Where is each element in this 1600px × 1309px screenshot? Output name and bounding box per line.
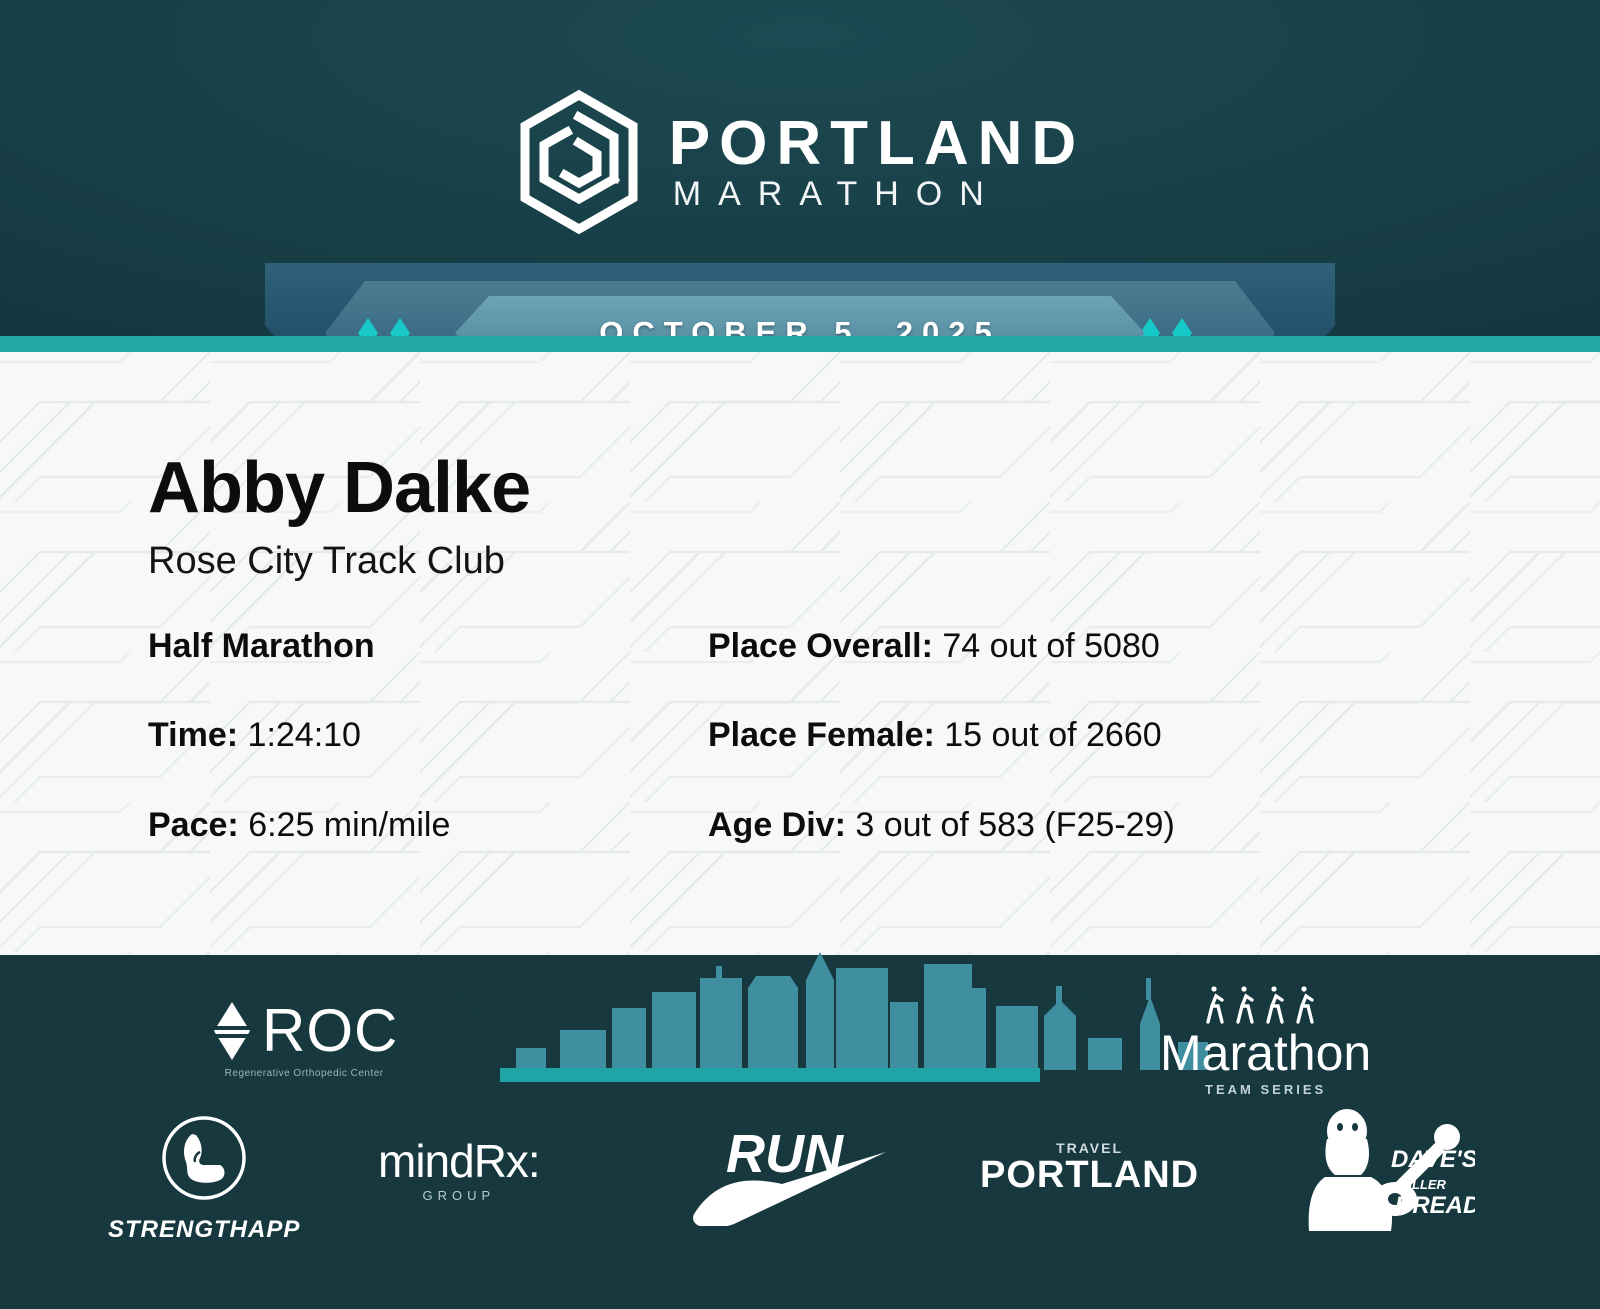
sponsor-strengthapp-word: STRENGTHAPP	[108, 1216, 300, 1244]
stat-time: Time: 1:24:10	[148, 717, 708, 754]
stat-place-female: Place Female: 15 out of 2660	[708, 717, 1448, 754]
nike-swoosh-run-icon: RUN	[690, 1118, 890, 1226]
stats-row-3: Pace: 6:25 min/mile Age Div: 3 out of 58…	[148, 807, 1448, 844]
stats-col-left: Pace: 6:25 min/mile	[148, 807, 708, 844]
stat-pace-value: 6:25 min/mile	[248, 806, 450, 844]
stats-row-2: Time: 1:24:10 Place Female: 15 out of 26…	[148, 717, 1448, 754]
stat-event-name-label: Half Marathon	[148, 627, 375, 665]
event-logo-text: PORTLAND MARATHON	[669, 113, 1085, 211]
sponsor-mindrx: mindRx: GROUP	[378, 1138, 540, 1203]
sponsor-strengthapp: STRENGTHAPP	[108, 1108, 300, 1244]
stats-col-left: Half Marathon	[148, 628, 708, 665]
event-logo-subtitle: MARATHON	[669, 177, 1085, 211]
stat-pace-label: Pace:	[148, 806, 239, 844]
stat-pace: Pace: 6:25 min/mile	[148, 807, 708, 844]
stat-time-label: Time:	[148, 716, 238, 754]
portland-marathon-hex-spiral-icon	[515, 87, 643, 237]
event-logo-title: PORTLAND	[669, 113, 1085, 175]
sponsor-mindrx-word: mindRx:	[378, 1138, 540, 1184]
sponsor-roc-tagline: Regenerative Orthopedic Center	[225, 1068, 384, 1079]
card-header: PORTLAND MARATHON OCTOBER 5, 2025	[0, 0, 1600, 352]
stat-time-value: 1:24:10	[248, 716, 361, 754]
stat-age-div-value: 3 out of 583 (F25-29)	[855, 806, 1174, 844]
flexed-bicep-icon	[154, 1108, 254, 1208]
athlete-club: Rose City Track Club	[148, 542, 505, 580]
sponsor-roc-main: ROC	[210, 1000, 398, 1062]
stat-age-div: Age Div: 3 out of 583 (F25-29)	[708, 807, 1448, 844]
stat-place-female-value: 15 out of 2660	[944, 716, 1161, 754]
stats-col-right: Place Female: 15 out of 2660	[708, 717, 1448, 754]
sponsor-daves-killer-bread: DAVE'S KILLER BREAD	[1295, 1095, 1475, 1245]
daves-killer-bread-guitarist-icon: DAVE'S KILLER BREAD	[1295, 1095, 1475, 1245]
sponsor-roc-word: ROC	[262, 1001, 398, 1061]
stat-place-female-label: Place Female:	[708, 716, 935, 754]
sponsor-roc: ROC Regenerative Orthopedic Center	[210, 1000, 398, 1079]
sponsor-dkb-line2: KILLER	[1399, 1177, 1447, 1192]
event-logo: PORTLAND MARATHON	[0, 82, 1600, 242]
sponsor-dkb-line3: BREAD	[1395, 1192, 1475, 1219]
stat-age-div-label: Age Div:	[708, 806, 846, 844]
sponsor-marathon-team-series-word: Marathon	[1160, 1028, 1371, 1078]
sponsor-travel-portland: TRAVEL PORTLAND	[980, 1140, 1199, 1196]
stat-place-overall-label: Place Overall:	[708, 627, 933, 665]
athlete-name: Abby Dalke	[148, 452, 530, 524]
stats-col-right: Place Overall: 74 out of 5080	[708, 628, 1448, 665]
roc-diamond-icon	[210, 1000, 254, 1062]
stat-place-overall: Place Overall: 74 out of 5080	[708, 628, 1448, 665]
sponsor-marathon-team-series: Marathon TEAM SERIES	[1160, 982, 1371, 1097]
stats-col-right: Age Div: 3 out of 583 (F25-29)	[708, 807, 1448, 844]
running-figures-icon	[1202, 982, 1330, 1026]
sponsor-nike-run: RUN	[690, 1118, 890, 1226]
sponsor-mindrx-sub: GROUP	[423, 1188, 496, 1203]
stats-col-left: Time: 1:24:10	[148, 717, 708, 754]
stats-row-1: Half Marathon Place Overall: 74 out of 5…	[148, 628, 1448, 665]
results-stats: Half Marathon Place Overall: 74 out of 5…	[148, 628, 1448, 896]
sponsor-travel-portland-word: PORTLAND	[980, 1156, 1199, 1196]
stat-event-name: Half Marathon	[148, 628, 708, 665]
sponsor-dkb-line1: DAVE'S	[1391, 1146, 1475, 1173]
stat-place-overall-value: 74 out of 5080	[942, 627, 1159, 665]
race-result-card: PORTLAND MARATHON OCTOBER 5, 2025	[0, 0, 1600, 1309]
